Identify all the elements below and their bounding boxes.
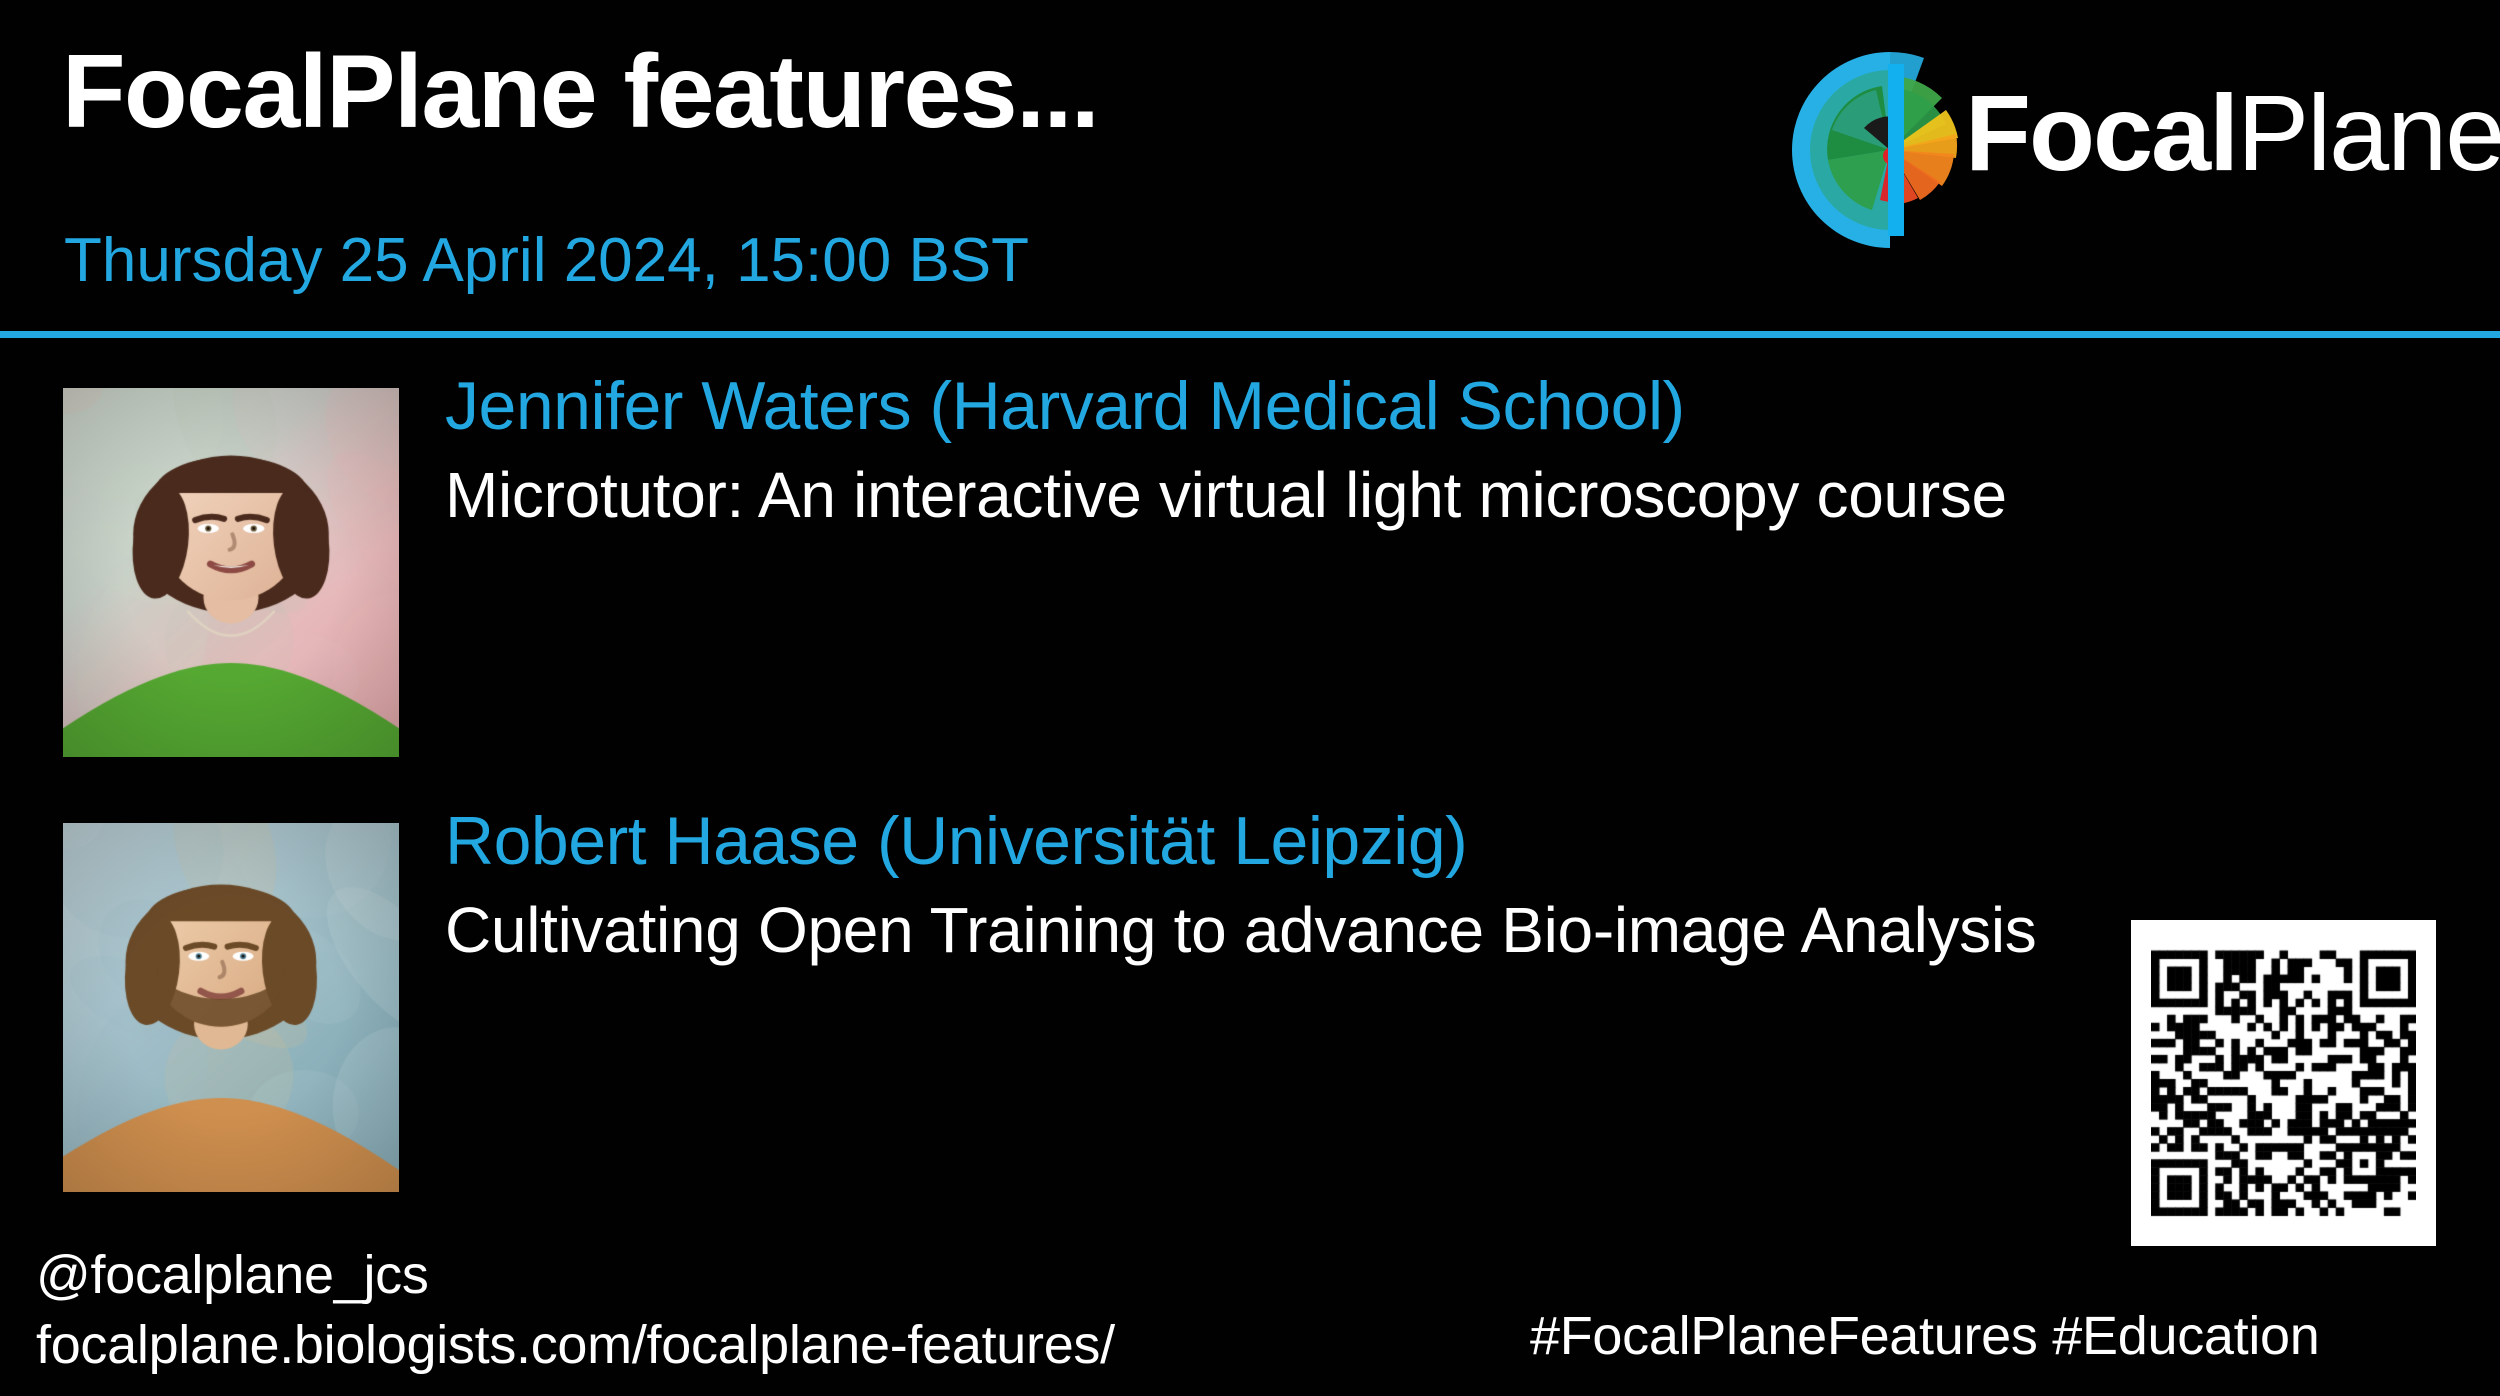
wordmark-focal: Focal: [1965, 72, 2237, 193]
speaker-photo-1: [63, 388, 399, 757]
wordmark-plane: Plane: [2237, 72, 2500, 193]
website-url[interactable]: focalplane.biologists.com/focalplane-fea…: [36, 1310, 1115, 1380]
focalplane-wordmark: FocalPlane: [1965, 79, 2500, 187]
event-datetime: Thursday 25 April 2024, 15:00 BST: [64, 228, 1029, 293]
speaker-photo-2: [63, 823, 399, 1192]
focalplane-aperture-logo-icon: [1790, 50, 1990, 250]
speaker-name: Robert Haase (Universität Leipzig): [445, 807, 2145, 875]
footer-contact: @focalplane_jcs focalplane.biologists.co…: [36, 1240, 1115, 1380]
focalplane-logo[interactable]: FocalPlane: [1790, 45, 2500, 260]
speaker-talk-title: Microtutor: An interactive virtual light…: [445, 458, 2085, 533]
header-divider: [0, 331, 2500, 338]
speaker-text-block: Robert Haase (Universität Leipzig) Culti…: [445, 807, 2145, 968]
poster-canvas: FocalPlane features... Thursday 25 April…: [0, 0, 2500, 1396]
page-title: FocalPlane features...: [62, 38, 1098, 147]
social-handle[interactable]: @focalplane_jcs: [36, 1240, 1115, 1310]
speaker-text-block: Jennifer Waters (Harvard Medical School)…: [445, 372, 2145, 533]
hashtags: #FocalPlaneFeatures #Education: [1530, 1307, 2320, 1366]
qr-code[interactable]: [2131, 920, 2436, 1246]
speaker-name: Jennifer Waters (Harvard Medical School): [445, 372, 2145, 440]
speaker-talk-title: Cultivating Open Training to advance Bio…: [445, 893, 2085, 968]
